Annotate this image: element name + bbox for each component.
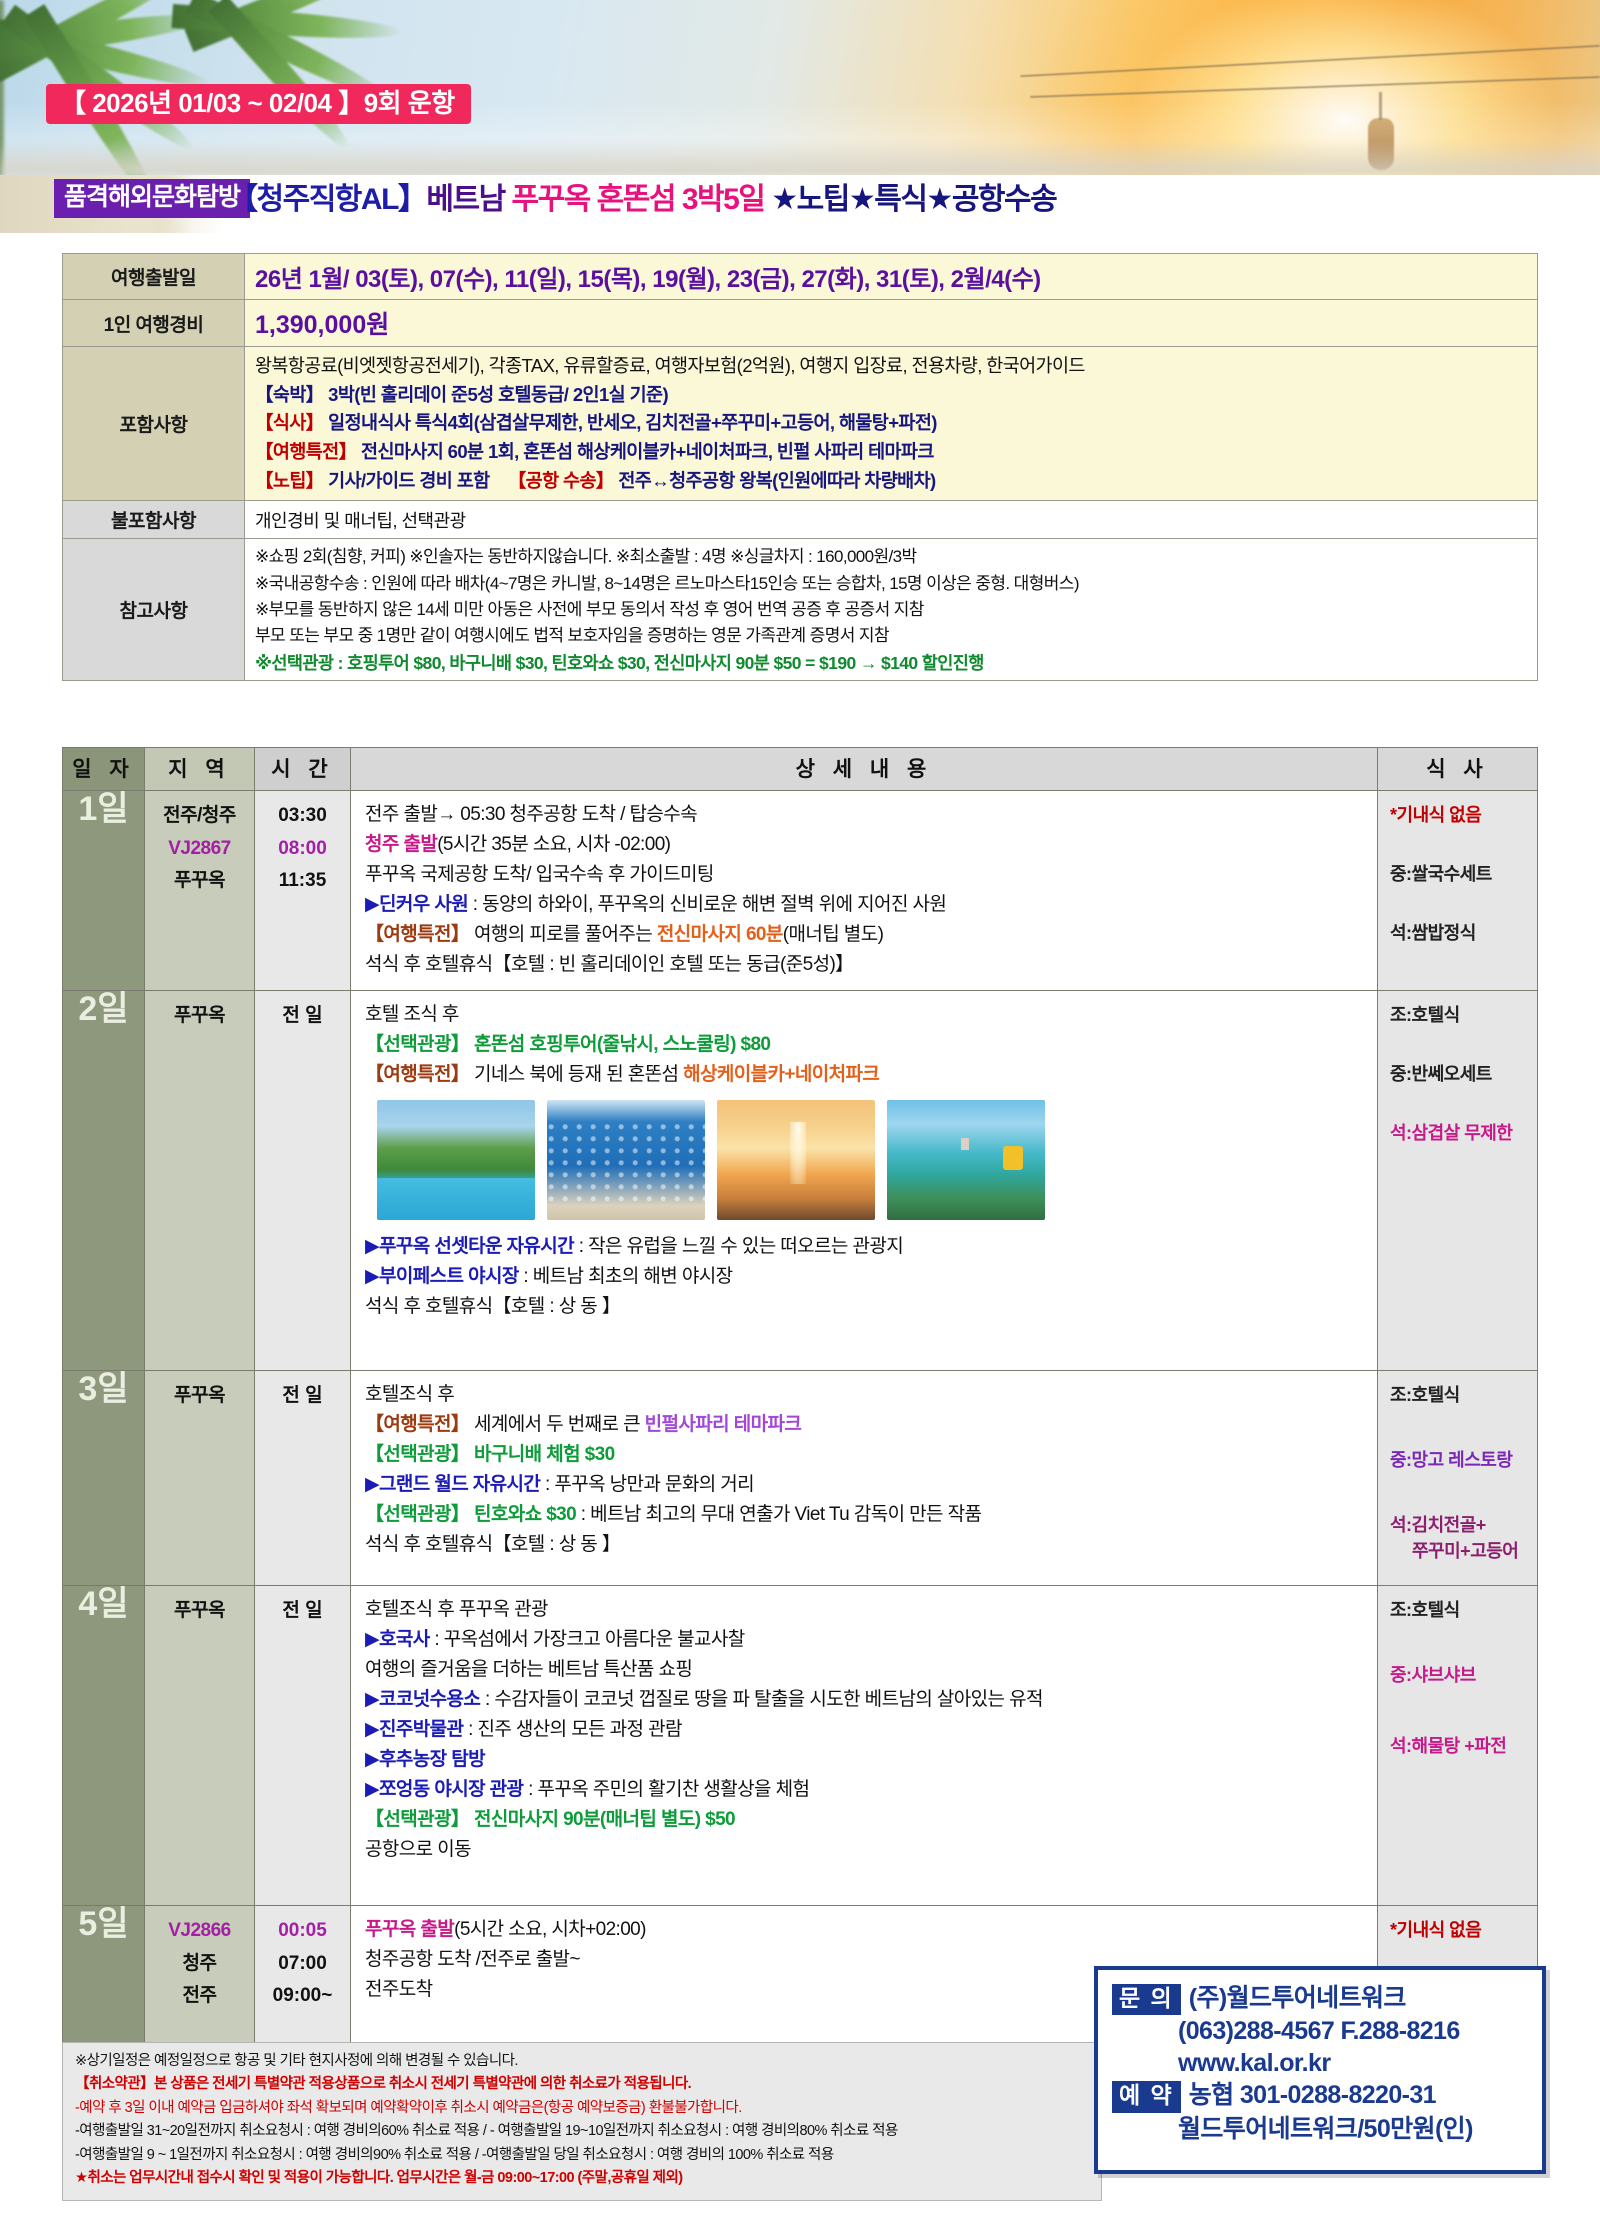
detail-tag: 【선택관광】: [365, 1809, 469, 1830]
photo-cable-car: [887, 1100, 1045, 1220]
area-text: VJ2867: [146, 833, 253, 866]
detail-text: : 동양의 하와이, 푸꾸옥의 신비로운 해변 절벽 위에 지어진 사원: [468, 894, 946, 915]
detail-text: 전주 출발→ 05:30 청주공항 도착 / 탑승수속: [365, 804, 697, 825]
value-inclusions: 왕복항공료(비엣젯항공전세기), 각종TAX, 유류할증료, 여행자보험(2억원…: [245, 347, 1538, 501]
bullet-triangle-icon: ▶: [365, 1629, 379, 1650]
area-text: 청주: [146, 1948, 253, 1981]
value-notes: ※쇼핑 2회(침향, 커피) ※인솔자는 동반하지않습니다. ※최소출발 : 4…: [245, 539, 1538, 680]
photo-gallery: ❮: [377, 1100, 1367, 1220]
area-text: VJ2866: [146, 1915, 253, 1948]
meal-cell: 조:호텔식중:샤브샤브석:해물탕 +파전: [1378, 1586, 1538, 1906]
note-line-2: ※국내공항수송 : 인원에 따라 배차(4~7명은 카니발, 8~14명은 르노…: [255, 571, 1527, 597]
itinerary-day-row: 4일푸꾸옥전 일호텔조식 후 푸꾸옥 관광▶호국사 : 꾸옥섬에서 가장크고 아…: [63, 1586, 1538, 1906]
itinerary-head: 일 자 지 역 시 간 상 세 내 용 식 사: [63, 748, 1538, 791]
inclusion-line-lodging: 【숙박】 3박(빈 홀리데이 준5성 호텔동급/ 2인1실 기준): [255, 381, 1527, 410]
itinerary-header-row: 일 자 지 역 시 간 상 세 내 용 식 사: [63, 748, 1538, 791]
detail-text: 기네스 북에 등재 된 혼똔섬: [469, 1064, 683, 1085]
detail-line: 호텔 조식 후: [365, 1000, 1367, 1030]
inclusion-line-flight: 왕복항공료(비엣젯항공전세기), 각종TAX, 유류할증료, 여행자보험(2억원…: [255, 352, 1527, 381]
hero-banner: 【 2026년 01/03 ~ 02/04 】9회 운항: [0, 0, 1600, 175]
detail-lead: 그랜드 월드 자유시간: [379, 1474, 540, 1495]
photo-harbor: [547, 1100, 705, 1220]
detail-text: 세계에서 두 번째로 큰: [469, 1414, 644, 1435]
contact-phone[interactable]: (063)288-4567 F.288-8216: [1178, 2015, 1532, 2047]
meal-cell: 조:호텔식중:망고 레스토랑석:김치전골+쭈꾸미+고등어: [1378, 1371, 1538, 1586]
page-title: 【청주직항AL】베트남 푸꾸옥 혼똔섬 3박5일 ★노팁★특식★공항수송: [228, 177, 1056, 215]
area-cell: 푸꾸옥: [145, 991, 255, 1371]
detail-text: 호텔조식 후 푸꾸옥 관광: [365, 1599, 548, 1620]
header-detail: 상 세 내 용: [351, 748, 1378, 791]
meal-text: 중:쌀국수세트: [1390, 862, 1531, 887]
photo-sunset-cablecar: [717, 1100, 875, 1220]
detail-line: 여행의 즐거움을 더하는 베트남 특산품 쇼핑: [365, 1655, 1367, 1685]
area-text: 푸꾸옥: [146, 865, 253, 898]
detail-lead: 딘커우 사원: [379, 894, 468, 915]
header-area: 지 역: [145, 748, 255, 791]
day-number-cell: 5일: [63, 1906, 145, 2046]
area-text: 전주/청주: [146, 800, 253, 833]
photo-resort: [377, 1100, 535, 1220]
bullet-triangle-icon: ▶: [365, 894, 379, 915]
time-text: 11:35: [256, 865, 349, 898]
header-time: 시 간: [255, 748, 351, 791]
day-number: 1일: [64, 792, 143, 826]
detail-line: 【여행특전】 기네스 북에 등재 된 혼똔섬 해상케이블카+네이처파크: [365, 1060, 1367, 1090]
meal-text: 조:호텔식: [1390, 1003, 1531, 1028]
detail-text: : 푸꾸옥 낭만과 문화의 거리: [540, 1474, 754, 1495]
detail-text: : 진주 생산의 모든 과정 관람: [463, 1719, 681, 1740]
policy-line-fee-2: -여행출발일 9 ~ 1일전까지 취소요청시 : 여행 경비의90% 취소료 적…: [75, 2144, 1091, 2167]
detail-tag: 【선택관광】: [365, 1444, 469, 1465]
detail-lead: 코코넛수용소: [379, 1689, 480, 1710]
detail-text-extra: (매너팁 별도): [783, 924, 884, 945]
meal-text: 조:호텔식: [1390, 1598, 1531, 1623]
detail-text: : 수감자들이 코코넛 껍질로 땅을 파 탈출을 시도한 베트남의 살아있는 유…: [480, 1689, 1043, 1710]
detail-text: 틴호와쇼 $30: [469, 1504, 576, 1525]
time-text: 전 일: [256, 1595, 349, 1628]
title-airport: 【청주직항AL】: [228, 183, 426, 216]
meal-text: 석:쌈밥정식: [1390, 921, 1531, 946]
inquiry-tag: 문 의: [1112, 1984, 1181, 2015]
detail-line: 석식 후 호텔휴식【호텔 : 상 동 】: [365, 1292, 1367, 1322]
detail-text-extra: : 베트남 최고의 무대 연출가 Viet Tu 감독이 만든 작품: [576, 1504, 981, 1525]
detail-cell: 호텔 조식 후【선택관광】 혼똔섬 호핑투어(줄낚시, 스노쿨링) $80【여행…: [351, 991, 1378, 1371]
detail-text: : 작은 유럽을 느낄 수 있는 떠오르는 관광지: [574, 1236, 903, 1257]
cancellation-policy-box: ※상기일정은 예정일정으로 항공 및 기타 현지사정에 의해 변경될 수 있습니…: [62, 2042, 1102, 2201]
detail-text: 공항으로 이동: [365, 1839, 471, 1860]
meals-text: 일정내식사 특식4회(삼겹살무제한, 반세오, 김치전골+쭈꾸미+고등어, 해물…: [324, 412, 937, 433]
detail-line: ▶코코넛수용소 : 수감자들이 코코넛 껍질로 땅을 파 탈출을 시도한 베트남…: [365, 1685, 1367, 1715]
day-number: 5일: [64, 1907, 143, 1941]
detail-cell: 전주 출발→ 05:30 청주공항 도착 / 탑승수속청주 출발(5시간 35분…: [351, 791, 1378, 991]
inclusion-line-meals: 【식사】 일정내식사 특식4회(삼겹살무제한, 반세오, 김치전골+쭈꾸미+고등…: [255, 409, 1527, 438]
day-number: 4일: [64, 1587, 143, 1621]
detail-line: 푸꾸옥 국제공항 도착/ 입국수속 후 가이드미팅: [365, 860, 1367, 890]
detail-cell: 호텔조식 후 푸꾸옥 관광▶호국사 : 꾸옥섬에서 가장크고 아름다운 불교사찰…: [351, 1586, 1378, 1906]
value-exclusions: 개인경비 및 매너팁, 선택관광: [245, 501, 1538, 539]
meal-text: *기내식 없음: [1390, 803, 1531, 828]
itinerary-day-row: 1일전주/청주VJ2867푸꾸옥03:3008:0011:35전주 출발→ 05…: [63, 791, 1538, 991]
tag-meals: 【식사】: [255, 412, 324, 433]
detail-tag: 【선택관광】: [365, 1034, 469, 1055]
note-line-1: ※쇼핑 2회(침향, 커피) ※인솔자는 동반하지않습니다. ※최소출발 : 4…: [255, 544, 1527, 570]
detail-text: 석식 후 호텔휴식【호텔 : 상 동 】: [365, 1296, 620, 1317]
detail-line: 석식 후 호텔휴식【호텔 : 상 동 】: [365, 1530, 1367, 1560]
detail-text: 전주도착: [365, 1979, 433, 2000]
time-cell: 03:3008:0011:35: [255, 791, 351, 991]
area-text: 푸꾸옥: [146, 1000, 253, 1033]
title-destination: 푸꾸옥 혼똔섬 3박5일: [512, 183, 765, 216]
tag-airport-transfer: 【공항 수송】: [508, 470, 614, 491]
detail-text: 바구니배 체험 $30: [469, 1444, 614, 1465]
detail-tag: 【여행특전】: [365, 924, 469, 945]
bullet-triangle-icon: ▶: [365, 1719, 379, 1740]
itinerary-body: 1일전주/청주VJ2867푸꾸옥03:3008:0011:35전주 출발→ 05…: [63, 791, 1538, 2046]
lodging-text: 3박(빈 홀리데이 준5성 호텔동급/ 2인1실 기준): [324, 384, 668, 405]
detail-lead: 진주박물관: [379, 1719, 463, 1740]
company-name: (주)월드투어네트워크: [1189, 1982, 1406, 2014]
detail-text: 석식 후 호텔휴식【호텔 : 상 동 】: [365, 1534, 620, 1555]
detail-line: ▶딘커우 사원 : 동양의 하와이, 푸꾸옥의 신비로운 해변 절벽 위에 지어…: [365, 890, 1367, 920]
time-text: 09:00~: [256, 1980, 349, 2013]
detail-line: 【선택관광】 전신마사지 90분(매너팁 별도) $50: [365, 1805, 1367, 1835]
detail-line: ▶푸꾸옥 선셋타운 자유시간 : 작은 유럽을 느낄 수 있는 떠오르는 관광지: [365, 1232, 1367, 1262]
policy-line-terms: 【취소약관】본 상품은 전세기 특별약관 적용상품으로 취소시 전세기 특별약관…: [75, 2073, 1091, 2096]
bullet-triangle-icon: ▶: [365, 1474, 379, 1495]
meal-cell: 조:호텔식중:반쎄오세트석:삼겹살 무제한: [1378, 991, 1538, 1371]
label-inclusions: 포함사항: [63, 347, 245, 501]
detail-text: 여행의 피로를 풀어주는: [469, 924, 657, 945]
bullet-triangle-icon: ▶: [365, 1266, 379, 1287]
detail-cell: 호텔조식 후【여행특전】 세계에서 두 번째로 큰 빈펄사파리 테마파크【선택관…: [351, 1371, 1378, 1586]
time-text: 07:00: [256, 1948, 349, 1981]
title-perks: ★노팁★특식★공항수송: [771, 183, 1056, 216]
departure-period-chip: 【 2026년 01/03 ~ 02/04 】9회 운항: [46, 84, 471, 124]
detail-highlight: 해상케이블카+네이처파크: [683, 1064, 879, 1085]
detail-text: : 베트남 최초의 해변 야시장: [519, 1266, 733, 1287]
label-price: 1인 여행경비: [63, 300, 245, 347]
inclusion-line-perks: 【여행특전】 전신마사지 60분 1회, 혼똔섬 해상케이블카+네이처파크, 빈…: [255, 438, 1527, 467]
label-departure-dates: 여행출발일: [63, 254, 245, 300]
detail-lead: 쪼엉동 야시장 관광: [379, 1779, 523, 1800]
detail-text: 전신마사지 90분(매너팁 별도) $50: [469, 1809, 735, 1830]
inclusion-line-notip: 【노팁】 기사/가이드 경비 포함 【공항 수송】 전주↔청주공항 왕복(인원에…: [255, 467, 1527, 496]
airport-transfer-text: 전주↔청주공항 왕복(인원에따라 차량배차): [614, 470, 936, 491]
policy-line-deposit: -예약 후 3일 이내 예약금 입금하셔야 좌석 확보되며 예약확약이후 취소시…: [75, 2097, 1091, 2120]
label-notes: 참고사항: [63, 539, 245, 680]
detail-line: 【선택관광】 틴호와쇼 $30 : 베트남 최고의 무대 연출가 Viet Tu…: [365, 1500, 1367, 1530]
detail-tag: 【여행특전】: [365, 1414, 469, 1435]
detail-line: ▶진주박물관 : 진주 생산의 모든 과정 관람: [365, 1715, 1367, 1745]
detail-line: 호텔조식 후 푸꾸옥 관광: [365, 1595, 1367, 1625]
detail-line: 전주 출발→ 05:30 청주공항 도착 / 탑승수속: [365, 800, 1367, 830]
notip-text: 기사/가이드 경비 포함: [324, 470, 490, 491]
detail-text: 호텔 조식 후: [365, 1004, 459, 1025]
meal-text: 석:해물탕 +파전: [1390, 1734, 1531, 1759]
tag-notip: 【노팁】: [255, 470, 324, 491]
itinerary-day-row: 3일푸꾸옥전 일호텔조식 후【여행특전】 세계에서 두 번째로 큰 빈펄사파리 …: [63, 1371, 1538, 1586]
policy-line-fee-1: -여행출발일 31~20일전까지 취소요청시 : 여행 경비의60% 취소료 적…: [75, 2120, 1091, 2143]
meal-text: 중:샤브샤브: [1390, 1663, 1531, 1688]
table-row-departure-dates: 여행출발일 26년 1월/ 03(토), 07(수), 11(일), 15(목)…: [63, 254, 1538, 300]
policy-line-hours: ★취소는 업무시간내 접수시 확인 및 적용이 가능합니다. 업무시간은 월-금…: [75, 2167, 1091, 2190]
time-text: 00:05: [256, 1915, 349, 1948]
table-row-price: 1인 여행경비 1,390,000원: [63, 300, 1538, 347]
detail-line: ▶부이페스트 야시장 : 베트남 최초의 해변 야시장: [365, 1262, 1367, 1292]
detail-line: ▶호국사 : 꾸옥섬에서 가장크고 아름다운 불교사찰: [365, 1625, 1367, 1655]
tag-perks: 【여행특전】: [255, 441, 356, 462]
area-cell: 푸꾸옥: [145, 1586, 255, 1906]
time-text: 08:00: [256, 833, 349, 866]
day-number-cell: 3일: [63, 1371, 145, 1586]
detail-text: : 푸꾸옥 주민의 활기찬 생활상을 체험: [523, 1779, 809, 1800]
area-cell: VJ2866청주전주: [145, 1906, 255, 2046]
day-number: 2일: [64, 992, 143, 1026]
time-text: 전 일: [256, 1000, 349, 1033]
detail-lead: 호국사: [379, 1629, 430, 1650]
table-row-exclusions: 불포함사항 개인경비 및 매너팁, 선택관광: [63, 501, 1538, 539]
contact-box: 문 의 (주)월드투어네트워크 (063)288-4567 F.288-8216…: [1094, 1966, 1546, 2174]
time-cell: 전 일: [255, 1371, 351, 1586]
meal-text: 중:망고 레스토랑: [1390, 1448, 1531, 1473]
time-cell: 전 일: [255, 1586, 351, 1906]
contact-booking-row: 예 약 농협 301-0288-8220-31: [1112, 2079, 1532, 2112]
detail-text: 호텔조식 후: [365, 1384, 454, 1405]
time-text: 전 일: [256, 1380, 349, 1413]
note-optional-tours: ※선택관광 : 호핑투어 $80, 바구니배 $30, 틴호와쇼 $30, 전신…: [255, 650, 1527, 675]
detail-highlight: 전신마사지 60분: [657, 924, 783, 945]
note-line-4: 부모 또는 부모 중 1명만 같이 여행시에도 법적 보호자임을 증명하는 영문…: [255, 623, 1527, 649]
day-number-cell: 4일: [63, 1586, 145, 1906]
contact-inquiry-row: 문 의 (주)월드투어네트워크: [1112, 1982, 1532, 2015]
product-info-table: 여행출발일 26년 1월/ 03(토), 07(수), 11(일), 15(목)…: [62, 253, 1538, 681]
detail-text: 푸꾸옥 국제공항 도착/ 입국수속 후 가이드미팅: [365, 864, 714, 885]
area-text: 푸꾸옥: [146, 1380, 253, 1413]
detail-tag: 【선택관광】: [365, 1504, 469, 1525]
detail-text: 여행의 즐거움을 더하는 베트남 특산품 쇼핑: [365, 1659, 692, 1680]
contact-website[interactable]: www.kal.or.kr: [1178, 2047, 1532, 2079]
time-cell: 전 일: [255, 991, 351, 1371]
value-price: 1,390,000원: [245, 300, 1538, 347]
detail-lead: 부이페스트 야시장: [379, 1266, 519, 1287]
meal-cell: *기내식 없음중:쌀국수세트석:쌈밥정식: [1378, 791, 1538, 991]
detail-tag: 【여행특전】: [365, 1064, 469, 1085]
detail-text: 석식 후 호텔휴식【호텔 : 빈 홀리데이인 호텔 또는 동급(준5성)】: [365, 954, 854, 975]
detail-line: 푸꾸옥 출발(5시간 소요, 시차+02:00): [365, 1915, 1367, 1945]
detail-line: ▶그랜드 월드 자유시간 : 푸꾸옥 낭만과 문화의 거리: [365, 1470, 1367, 1500]
table-row-inclusions: 포함사항 왕복항공료(비엣젯항공전세기), 각종TAX, 유류할증료, 여행자보…: [63, 347, 1538, 501]
area-text: 푸꾸옥: [146, 1595, 253, 1628]
bullet-triangle-icon: ▶: [365, 1236, 379, 1257]
detail-line: 청주 출발(5시간 35분 소요, 시차 -02:00): [365, 830, 1367, 860]
hero-bottom-fade: [0, 141, 1600, 175]
time-text: 03:30: [256, 800, 349, 833]
category-badge: 품격해외문화탐방: [54, 179, 250, 218]
label-exclusions: 불포함사항: [63, 501, 245, 539]
account-holder: 월드투어네트워크/50만원(인): [1178, 2113, 1532, 2145]
meal-text: 중:반쎄오세트: [1390, 1062, 1531, 1087]
title-country: 베트남: [426, 183, 504, 216]
detail-lead: 후추농장 탐방: [379, 1749, 485, 1770]
booking-tag: 예 약: [1112, 2081, 1181, 2112]
area-text: 전주: [146, 1980, 253, 2013]
detail-line: 호텔조식 후: [365, 1380, 1367, 1410]
detail-highlight: 빈펄사파리 테마파크: [645, 1414, 802, 1435]
note-line-3: ※부모를 동반하지 않은 14세 미만 아동은 사전에 부모 동의서 작성 후 …: [255, 597, 1527, 623]
detail-line: ▶쪼엉동 야시장 관광 : 푸꾸옥 주민의 활기찬 생활상을 체험: [365, 1775, 1367, 1805]
detail-line: 【여행특전】 여행의 피로를 풀어주는 전신마사지 60분(매너팁 별도): [365, 920, 1367, 950]
detail-text: (5시간 소요, 시차+02:00): [454, 1919, 646, 1940]
itinerary-table: 일 자 지 역 시 간 상 세 내 용 식 사 1일전주/청주VJ2867푸꾸옥…: [62, 747, 1538, 2046]
detail-text: 청주공항 도착 /전주로 출발~: [365, 1949, 580, 1970]
day-number-cell: 1일: [63, 791, 145, 991]
time-cell: 00:0507:0009:00~: [255, 1906, 351, 2046]
detail-lead: 푸꾸옥 출발: [365, 1919, 454, 1940]
bank-account: 농협 301-0288-8220-31: [1189, 2079, 1436, 2111]
bullet-triangle-icon: ▶: [365, 1779, 379, 1800]
meal-text: 조:호텔식: [1390, 1383, 1531, 1408]
tag-lodging: 【숙박】: [255, 384, 324, 405]
detail-lead: 푸꾸옥 선셋타운 자유시간: [379, 1236, 574, 1257]
area-cell: 전주/청주VJ2867푸꾸옥: [145, 791, 255, 991]
meal-text: *기내식 없음: [1390, 1918, 1531, 1943]
bullet-triangle-icon: ▶: [365, 1689, 379, 1710]
detail-line: 【선택관광】 바구니배 체험 $30: [365, 1440, 1367, 1470]
detail-line: 공항으로 이동: [365, 1835, 1367, 1865]
detail-line: 석식 후 호텔휴식【호텔 : 빈 홀리데이인 호텔 또는 동급(준5성)】: [365, 950, 1367, 980]
itinerary-day-row: 2일푸꾸옥전 일호텔 조식 후【선택관광】 혼똔섬 호핑투어(줄낚시, 스노쿨링…: [63, 991, 1538, 1371]
detail-lead: 청주 출발: [365, 834, 437, 855]
meal-text: 석:삼겹살 무제한: [1390, 1121, 1531, 1146]
day-number: 3일: [64, 1372, 143, 1406]
bullet-triangle-icon: ▶: [365, 1749, 379, 1770]
area-cell: 푸꾸옥: [145, 1371, 255, 1586]
detail-line: ▶후추농장 탐방: [365, 1745, 1367, 1775]
detail-line: 【여행특전】 세계에서 두 번째로 큰 빈펄사파리 테마파크: [365, 1410, 1367, 1440]
detail-text: : 꾸옥섬에서 가장크고 아름다운 불교사찰: [430, 1629, 745, 1650]
detail-line: 【선택관광】 혼똔섬 호핑투어(줄낚시, 스노쿨링) $80: [365, 1030, 1367, 1060]
value-departure-dates: 26년 1월/ 03(토), 07(수), 11(일), 15(목), 19(월…: [245, 254, 1538, 300]
header-day: 일 자: [63, 748, 145, 791]
detail-text: (5시간 35분 소요, 시차 -02:00): [437, 834, 670, 855]
policy-line-schedule: ※상기일정은 예정일정으로 항공 및 기타 현지사정에 의해 변경될 수 있습니…: [75, 2050, 1091, 2073]
meal-text: 쭈꾸미+고등어: [1412, 1539, 1531, 1564]
meal-text: 석:김치전골+: [1390, 1513, 1531, 1538]
table-row-notes: 참고사항 ※쇼핑 2회(침향, 커피) ※인솔자는 동반하지않습니다. ※최소출…: [63, 539, 1538, 680]
product-title-bar: 품격해외문화탐방 【청주직항AL】베트남 푸꾸옥 혼똔섬 3박5일 ★노팁★특식…: [0, 175, 1600, 233]
detail-text: 혼똔섬 호핑투어(줄낚시, 스노쿨링) $80: [469, 1034, 770, 1055]
day-number-cell: 2일: [63, 991, 145, 1371]
perks-text: 전신마사지 60분 1회, 혼똔섬 해상케이블카+네이처파크, 빈펄 사파리 테…: [356, 441, 933, 462]
header-meal: 식 사: [1378, 748, 1538, 791]
